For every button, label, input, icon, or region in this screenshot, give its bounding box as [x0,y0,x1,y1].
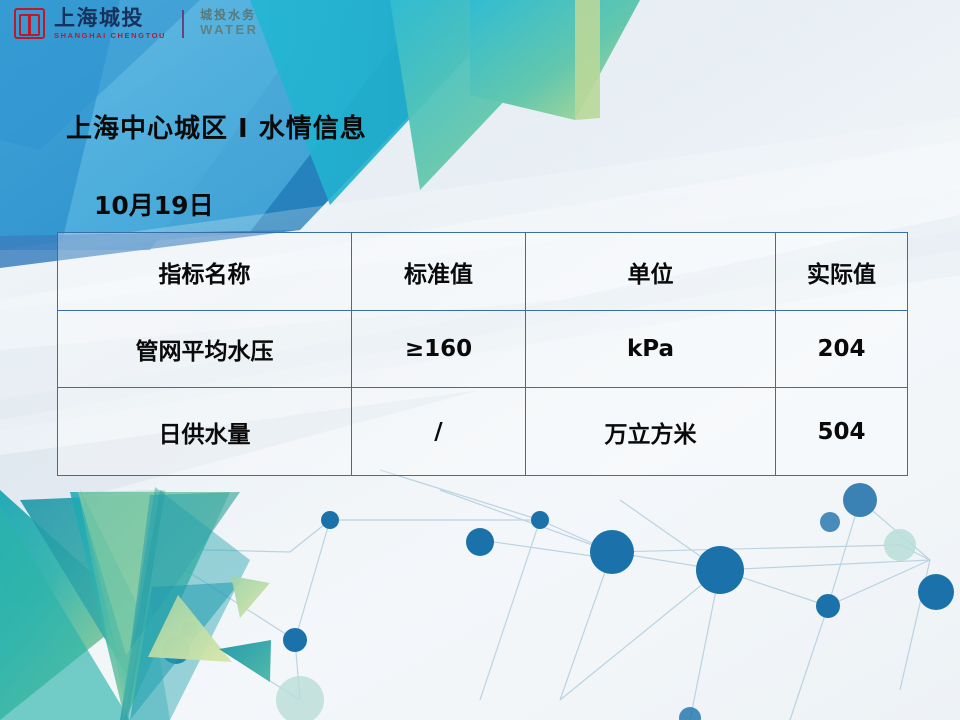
cell-standard: ≥160 [352,311,526,388]
logo-brand-cn: 上海城投 [54,8,166,29]
cell-actual: 504 [776,388,908,476]
cell-unit: 万立方米 [526,388,776,476]
table-row: 管网平均水压 ≥160 kPa 204 [58,311,908,388]
column-header-standard: 标准值 [352,233,526,311]
logo-sub-wordmark: 城投水务 WATER [200,9,258,38]
column-header-indicator: 指标名称 [58,233,352,311]
cell-standard: / [352,388,526,476]
cell-indicator: 日供水量 [58,388,352,476]
cell-unit: kPa [526,311,776,388]
water-info-table: 指标名称 标准值 单位 实际值 管网平均水压 ≥160 kPa 204 日供水量… [57,232,908,476]
slide-root: 上海城投 SHANGHAI CHENGTOU 城投水务 WATER 上海中心城区… [0,0,960,720]
network-nodes [2,483,954,720]
column-header-actual: 实际值 [776,233,908,311]
logo-brand-en: SHANGHAI CHENGTOU [54,32,166,40]
report-date: 10月19日 [94,186,214,222]
brand-logo: 上海城投 SHANGHAI CHENGTOU 城投水务 WATER [14,8,259,40]
corner-triangles [0,487,271,720]
table-header-row: 指标名称 标准值 单位 实际值 [58,233,908,311]
logo-wordmark: 上海城投 SHANGHAI CHENGTOU [54,8,166,40]
table-row: 日供水量 / 万立方米 504 [58,388,908,476]
logo-sub-cn: 城投水务 [200,9,258,23]
cell-indicator: 管网平均水压 [58,311,352,388]
page-title: 上海中心城区 I 水情信息 [66,108,367,145]
chengtou-square-emblem-icon [14,8,45,39]
logo-sub-en: WATER [200,23,258,38]
logo-divider [182,10,184,38]
network-edges [30,470,930,720]
cell-actual: 204 [776,311,908,388]
column-header-unit: 单位 [526,233,776,311]
